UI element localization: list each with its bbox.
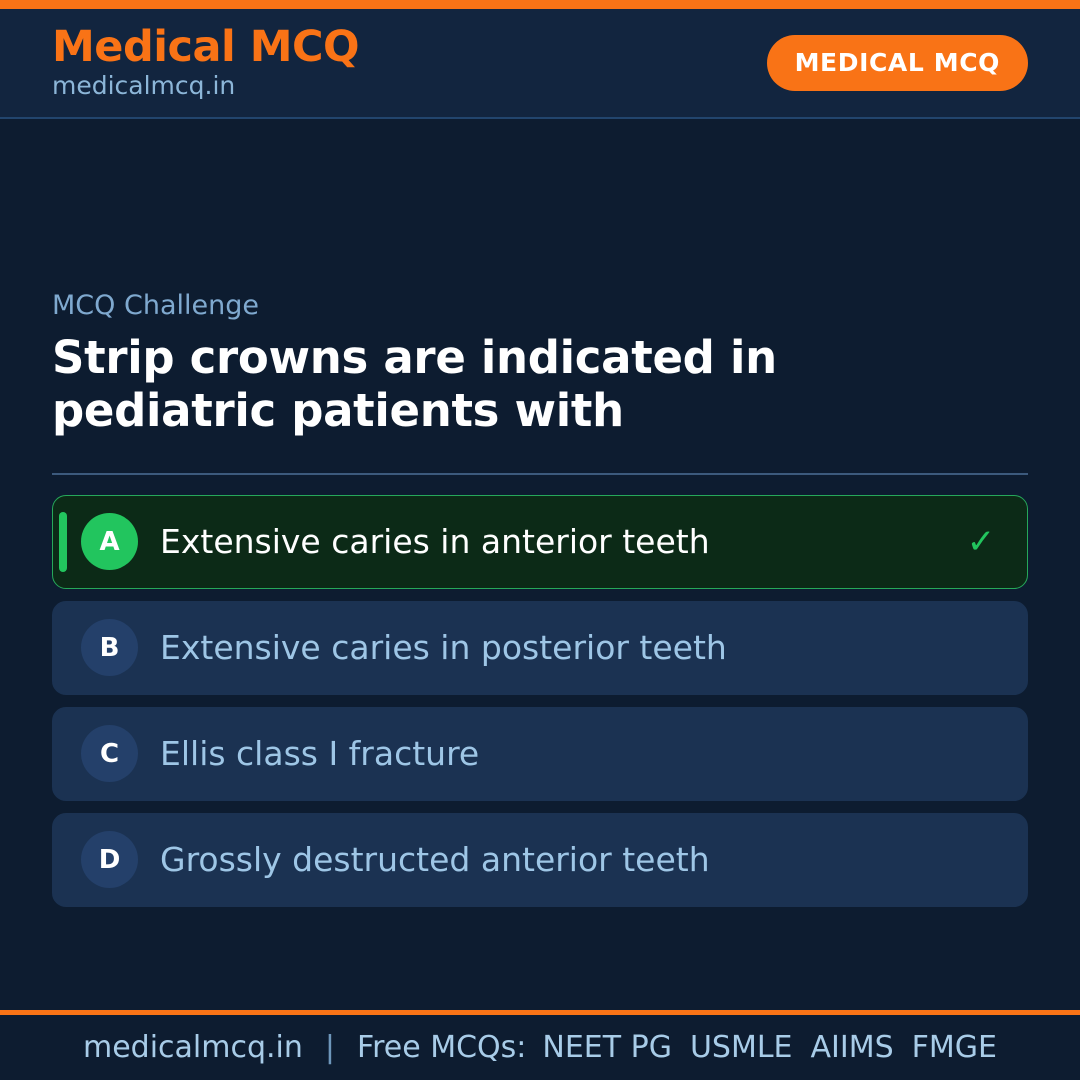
option-label: Extensive caries in posterior teeth	[160, 629, 961, 667]
footer-prefix: Free MCQs:	[357, 1030, 526, 1065]
footer-exam-fmge: FMGE	[912, 1030, 997, 1065]
footer-separator: |	[319, 1030, 341, 1065]
option-label: Grossly destructed anterior teeth	[160, 841, 961, 879]
footer-exam-aiims: AIIMS	[811, 1030, 894, 1065]
kicker-label: MCQ Challenge	[52, 291, 1028, 321]
footer-exam-usmle: USMLE	[690, 1030, 793, 1065]
option-a[interactable]: A Extensive caries in anterior teeth ✓	[52, 495, 1028, 589]
top-accent-bar	[0, 0, 1080, 9]
header-badge: MEDICAL MCQ	[767, 35, 1028, 91]
option-letter-badge: C	[81, 725, 138, 782]
option-letter-badge: D	[81, 831, 138, 888]
option-c[interactable]: C Ellis class I fracture	[52, 707, 1028, 801]
main-content: MCQ Challenge Strip crowns are indicated…	[0, 119, 1080, 1010]
option-letter-badge: A	[81, 513, 138, 570]
option-letter-badge: B	[81, 619, 138, 676]
mcq-card: Medical MCQ medicalmcq.in MEDICAL MCQ MC…	[0, 0, 1080, 1080]
option-label: Ellis class I fracture	[160, 735, 961, 773]
brand-subtitle: medicalmcq.in	[52, 72, 359, 100]
footer-inner: medicalmcq.in | Free MCQs: NEET PG USMLE…	[83, 1030, 997, 1065]
brand-title: Medical MCQ	[52, 26, 359, 70]
options-list: A Extensive caries in anterior teeth ✓ B…	[52, 495, 1028, 907]
question-divider	[52, 473, 1028, 475]
page-footer: medicalmcq.in | Free MCQs: NEET PG USMLE…	[0, 1010, 1080, 1080]
correct-accent-bar	[59, 512, 67, 572]
check-icon: ✓	[961, 525, 1001, 559]
footer-exam-list: NEET PG USMLE AIIMS FMGE	[542, 1030, 997, 1065]
option-b[interactable]: B Extensive caries in posterior teeth	[52, 601, 1028, 695]
footer-exam-neetpg: NEET PG	[542, 1030, 672, 1065]
brand-block: Medical MCQ medicalmcq.in	[52, 26, 359, 99]
option-label: Extensive caries in anterior teeth	[160, 523, 961, 561]
option-d[interactable]: D Grossly destructed anterior teeth	[52, 813, 1028, 907]
footer-site[interactable]: medicalmcq.in	[83, 1030, 303, 1065]
page-header: Medical MCQ medicalmcq.in MEDICAL MCQ	[0, 9, 1080, 119]
top-spacer	[52, 119, 1028, 291]
question-text: Strip crowns are indicated in pediatric …	[52, 331, 912, 437]
